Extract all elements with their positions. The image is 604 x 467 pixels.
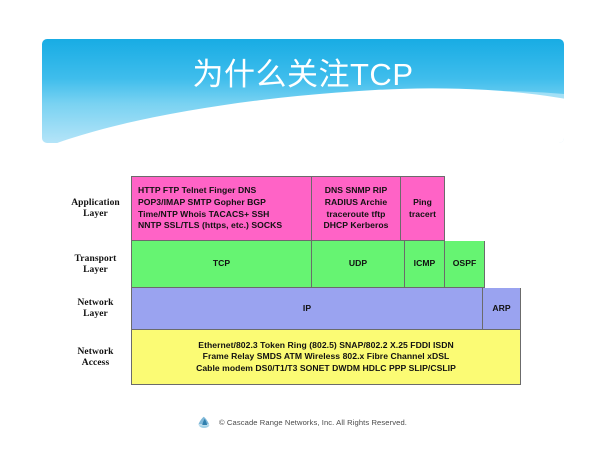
layer-cells-network: IP ARP bbox=[131, 288, 521, 330]
protocol-cell-tcp: TCP bbox=[131, 241, 312, 288]
protocol-cell-application-1: HTTP FTP Telnet Finger DNS POP3/IMAP SMT… bbox=[131, 176, 312, 241]
slide-footer: © Cascade Range Networks, Inc. All Right… bbox=[0, 414, 604, 430]
layer-label-line-1: Network bbox=[77, 347, 113, 358]
protocol-line: Ethernet/802.3 Token Ring (802.5) SNAP/8… bbox=[198, 340, 453, 352]
protocol-line: IP bbox=[303, 303, 311, 315]
layer-label-line-2: Layer bbox=[83, 209, 108, 220]
tcp-ip-layer-diagram: Application Layer HTTP FTP Telnet Finger… bbox=[60, 176, 521, 385]
protocol-line: UDP bbox=[349, 258, 367, 270]
protocol-line: tracert bbox=[409, 209, 436, 221]
copyright-text: © Cascade Range Networks, Inc. All Right… bbox=[219, 418, 407, 427]
protocol-line: TCP bbox=[213, 258, 230, 270]
protocol-line: ARP bbox=[492, 303, 510, 315]
protocol-line: Frame Relay SMDS ATM Wireless 802.x Fibr… bbox=[203, 351, 450, 363]
layer-label-line-1: Network bbox=[77, 298, 113, 309]
protocol-cell-application-3: Ping tracert bbox=[401, 176, 445, 241]
layer-label-application: Application Layer bbox=[60, 176, 131, 241]
protocol-line: RADIUS Archie bbox=[325, 197, 387, 209]
layer-label-line-1: Application bbox=[71, 198, 120, 209]
page-title: 为什么关注TCP bbox=[42, 56, 564, 94]
protocol-cell-application-2: DNS SNMP RIP RADIUS Archie traceroute tf… bbox=[312, 176, 401, 241]
protocol-cell-udp: UDP bbox=[312, 241, 405, 288]
mountain-logo-icon bbox=[197, 414, 212, 430]
protocol-cell-arp: ARP bbox=[483, 288, 521, 330]
layer-row-network: Network Layer IP ARP bbox=[60, 288, 521, 330]
layer-label-line-2: Layer bbox=[83, 265, 108, 276]
protocol-line: DHCP Kerberos bbox=[324, 220, 389, 232]
layer-label-network: Network Layer bbox=[60, 288, 131, 330]
layer-label-transport: Transport Layer bbox=[60, 241, 131, 288]
slide-title-banner: 为什么关注TCP bbox=[42, 39, 564, 143]
layer-label-line-2: Access bbox=[82, 358, 110, 369]
protocol-cell-icmp: ICMP bbox=[405, 241, 445, 288]
layer-label-network-access: Network Access bbox=[60, 330, 131, 385]
layer-cells-network-access: Ethernet/802.3 Token Ring (802.5) SNAP/8… bbox=[131, 330, 521, 385]
protocol-cell-ospf: OSPF bbox=[445, 241, 485, 288]
layer-cells-transport: TCP UDP ICMP OSPF bbox=[131, 241, 485, 288]
layer-label-line-2: Layer bbox=[83, 309, 108, 320]
protocol-line: Time/NTP Whois TACACS+ SSH bbox=[138, 209, 269, 221]
layer-row-network-access: Network Access Ethernet/802.3 Token Ring… bbox=[60, 330, 521, 385]
protocol-cell-ip: IP bbox=[131, 288, 483, 330]
protocol-line: ICMP bbox=[414, 258, 436, 270]
protocol-line: DNS SNMP RIP bbox=[325, 185, 388, 197]
protocol-line: NNTP SSL/TLS (https, etc.) SOCKS bbox=[138, 220, 282, 232]
protocol-line: POP3/IMAP SMTP Gopher BGP bbox=[138, 197, 266, 209]
layer-cells-application: HTTP FTP Telnet Finger DNS POP3/IMAP SMT… bbox=[131, 176, 445, 241]
protocol-line: OSPF bbox=[453, 258, 477, 270]
protocol-line: HTTP FTP Telnet Finger DNS bbox=[138, 185, 256, 197]
protocol-cell-network-access: Ethernet/802.3 Token Ring (802.5) SNAP/8… bbox=[131, 330, 521, 385]
protocol-line: traceroute tftp bbox=[326, 209, 385, 221]
layer-row-transport: Transport Layer TCP UDP ICMP OSPF bbox=[60, 241, 521, 288]
layer-label-line-1: Transport bbox=[75, 254, 117, 265]
layer-row-application: Application Layer HTTP FTP Telnet Finger… bbox=[60, 176, 521, 241]
protocol-line: Ping bbox=[413, 197, 432, 209]
protocol-line: Cable modem DS0/T1/T3 SONET DWDM HDLC PP… bbox=[196, 363, 456, 375]
